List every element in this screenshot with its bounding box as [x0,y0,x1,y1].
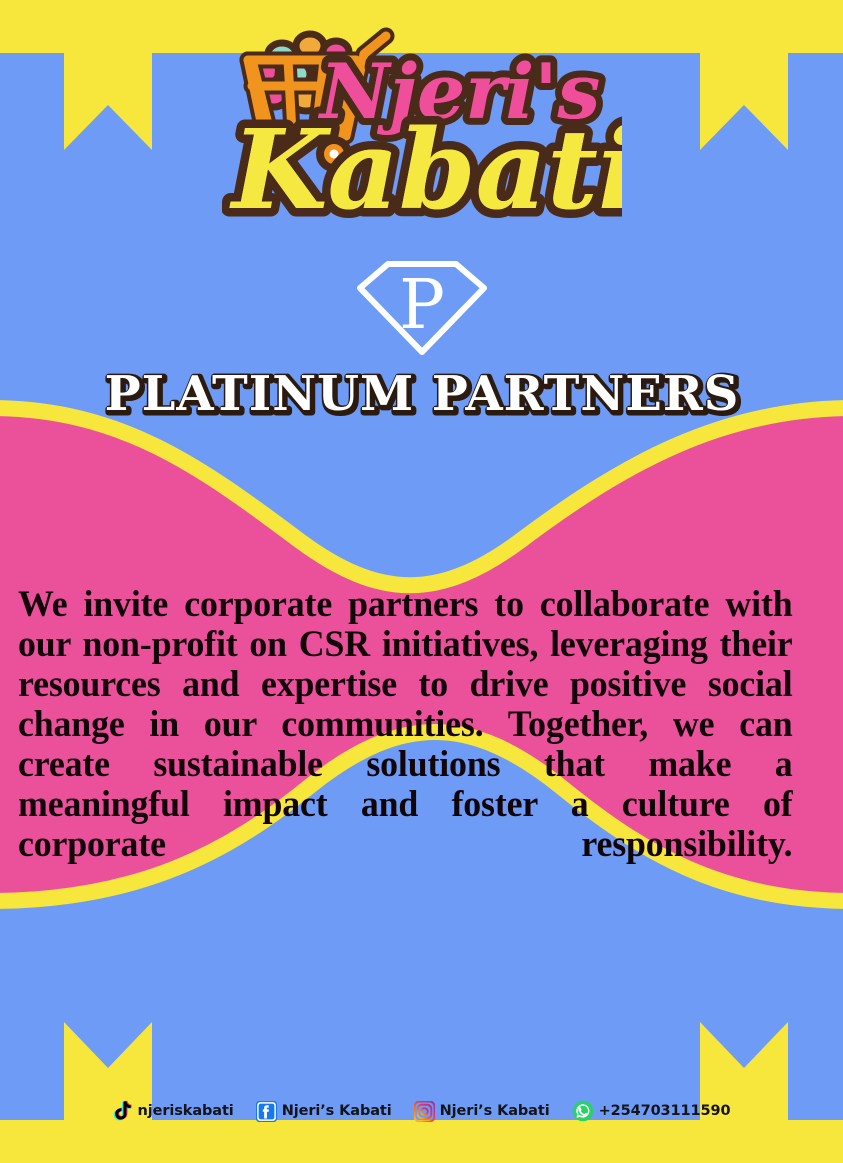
body-paragraph: We invite corporate partners to collabor… [18,585,793,905]
instagram-icon[interactable] [414,1101,435,1122]
whatsapp-icon[interactable] [572,1100,594,1122]
social-label-whatsapp: +254703111590 [599,1103,731,1119]
social-label-tiktok: njeriskabati [138,1103,234,1119]
page-title: PLATINUM PARTNERS PLATINUM PARTNERS [0,360,843,426]
page-title-text: PLATINUM PARTNERS [104,366,739,422]
social-item-whatsapp[interactable]: +254703111590 [572,1100,731,1122]
social-label-instagram: Njeri’s Kabati [440,1103,550,1119]
brand-logo-svg: Njeri's Njeri's Kabati Kabati [222,18,622,233]
platinum-badge: P [0,258,843,358]
social-label-facebook: Njeri’s Kabati [282,1103,392,1119]
facebook-icon[interactable] [256,1101,277,1122]
platinum-diamond-icon: P [352,258,492,358]
social-item-instagram[interactable]: Njeri’s Kabati [414,1101,550,1122]
logo-word-kabati: Kabati Kabati [229,105,622,233]
page-title-svg: PLATINUM PARTNERS PLATINUM PARTNERS [92,360,752,426]
social-item-tiktok[interactable]: njeriskabati [113,1100,234,1122]
svg-text:Kabati: Kabati [229,105,622,233]
badge-letter: P [399,266,445,345]
tiktok-icon[interactable] [113,1100,133,1122]
brand-logo: Njeri's Njeri's Kabati Kabati [0,18,843,243]
bottom-yellow-bar [0,1120,843,1163]
social-item-facebook[interactable]: Njeri’s Kabati [256,1101,392,1122]
footer-social-bar: njeriskabati Njeri’s Kabati [0,1100,843,1122]
poster-canvas: Njeri's Njeri's Kabati Kabati P PLATINUM… [0,0,843,1163]
